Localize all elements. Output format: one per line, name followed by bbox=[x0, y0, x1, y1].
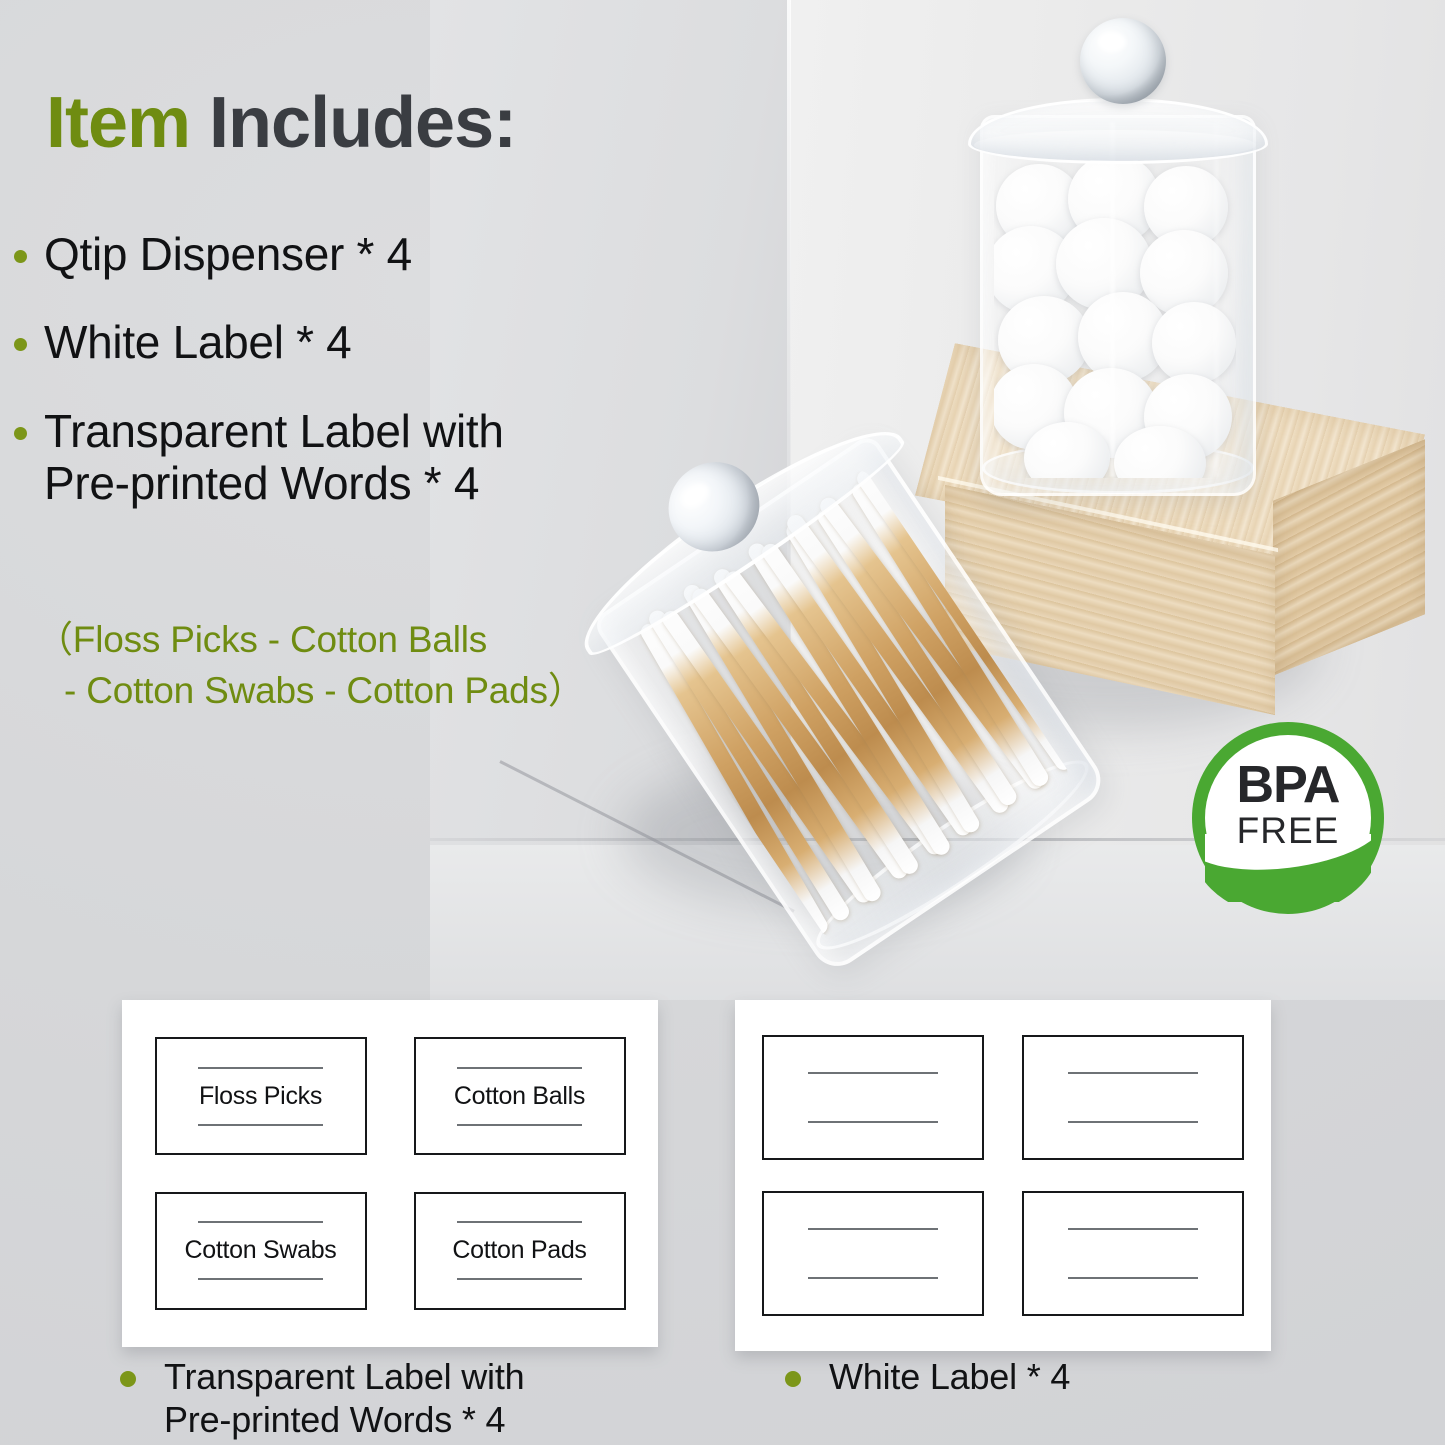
list-item: Transparent Label with Pre-printed Words… bbox=[14, 405, 694, 510]
label-cell bbox=[749, 1024, 997, 1172]
white-label-sheet bbox=[735, 1000, 1271, 1351]
label-text: Cotton Balls bbox=[454, 1082, 585, 1111]
label-text: Floss Picks bbox=[199, 1082, 322, 1111]
label-rule-bottom bbox=[1068, 1121, 1199, 1123]
bullet-dot-icon bbox=[785, 1371, 801, 1387]
label-cotton-pads: Cotton Pads bbox=[414, 1192, 626, 1310]
label-variants-line2: - Cotton Swabs - Cotton Pads） bbox=[64, 665, 585, 716]
list-item-label: Qtip Dispenser * 4 bbox=[44, 228, 412, 280]
label-rule-bottom bbox=[1068, 1277, 1199, 1279]
bpa-free-badge: BPA FREE bbox=[1192, 722, 1384, 914]
label-rule-bottom bbox=[808, 1277, 939, 1279]
label-rule-bottom bbox=[198, 1278, 323, 1280]
infographic-canvas: BPA FREE Item Includes: Qtip Dispenser *… bbox=[0, 0, 1445, 1445]
cotton-balls-fill bbox=[994, 160, 1236, 478]
label-cotton-swabs: Cotton Swabs bbox=[155, 1192, 367, 1310]
label-rule-top bbox=[457, 1067, 582, 1069]
badge-text: BPA FREE bbox=[1192, 762, 1384, 848]
caption-text: White Label * 4 bbox=[829, 1355, 1070, 1398]
label-cell: Cotton Balls bbox=[395, 1022, 644, 1171]
label-rule-bottom bbox=[808, 1121, 939, 1123]
badge-bpa-label: BPA bbox=[1192, 762, 1384, 810]
label-cell bbox=[1009, 1024, 1257, 1172]
blank-label bbox=[1022, 1035, 1244, 1160]
label-rule-top bbox=[808, 1072, 939, 1074]
page-title: Item Includes: bbox=[46, 82, 516, 164]
label-cell: Floss Picks bbox=[136, 1022, 385, 1171]
label-rule-bottom bbox=[457, 1124, 582, 1126]
bullet-dot-icon bbox=[14, 250, 27, 263]
list-item: White Label * 4 bbox=[14, 316, 694, 368]
list-item: Qtip Dispenser * 4 bbox=[14, 228, 694, 280]
label-cell bbox=[1009, 1180, 1257, 1328]
label-floss-picks: Floss Picks bbox=[155, 1037, 367, 1155]
label-rule-top bbox=[1068, 1072, 1199, 1074]
blank-label bbox=[762, 1035, 984, 1160]
caption-white-label: White Label * 4 bbox=[785, 1355, 1070, 1398]
jar-cotton-balls-lid-rim bbox=[974, 130, 1256, 160]
label-text: Cotton Pads bbox=[452, 1236, 586, 1265]
label-rule-bottom bbox=[457, 1278, 582, 1280]
knob-highlight bbox=[1098, 32, 1126, 52]
caption-transparent-label: Transparent Label with Pre-printed Words… bbox=[120, 1355, 524, 1441]
label-text: Cotton Swabs bbox=[184, 1236, 336, 1265]
label-cell bbox=[749, 1180, 997, 1328]
label-variants-note: （Floss Picks - Cotton Balls - Cotton Swa… bbox=[36, 614, 585, 716]
list-item-label: White Label * 4 bbox=[44, 316, 351, 368]
jar-cotton-balls-knob bbox=[1080, 18, 1166, 104]
label-variants-line1: （Floss Picks - Cotton Balls bbox=[36, 619, 487, 660]
label-rule-top bbox=[1068, 1228, 1199, 1230]
label-rule-bottom bbox=[198, 1124, 323, 1126]
label-rule-top bbox=[808, 1228, 939, 1230]
caption-text: Transparent Label with Pre-printed Words… bbox=[164, 1355, 524, 1441]
label-rule-top bbox=[457, 1221, 582, 1223]
label-cell: Cotton Pads bbox=[395, 1177, 644, 1326]
jar-cotton-balls bbox=[960, 10, 1270, 490]
blank-label bbox=[1022, 1191, 1244, 1316]
transparent-label-sheet: Floss Picks Cotton Balls Cotton Swabs Co… bbox=[122, 1000, 658, 1347]
label-cell: Cotton Swabs bbox=[136, 1177, 385, 1326]
list-item-label: Transparent Label with Pre-printed Words… bbox=[44, 405, 504, 510]
label-cotton-balls: Cotton Balls bbox=[414, 1037, 626, 1155]
bullet-dot-icon bbox=[120, 1371, 136, 1387]
bullet-dot-icon bbox=[14, 338, 27, 351]
includes-list: Qtip Dispenser * 4 White Label * 4 Trans… bbox=[14, 228, 694, 546]
title-green-word: Item bbox=[46, 83, 190, 163]
badge-free-label: FREE bbox=[1192, 814, 1384, 848]
bullet-dot-icon bbox=[14, 427, 27, 440]
label-rule-top bbox=[198, 1221, 323, 1223]
blank-label bbox=[762, 1191, 984, 1316]
title-dark-word: Includes: bbox=[190, 83, 516, 163]
label-rule-top bbox=[198, 1067, 323, 1069]
